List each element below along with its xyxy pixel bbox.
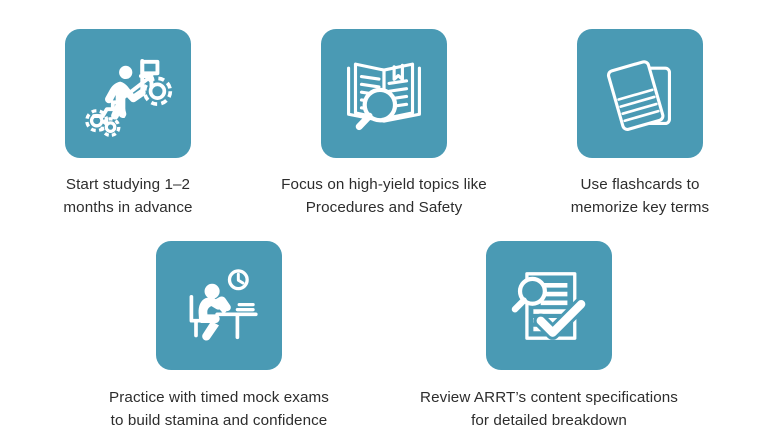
career-growth-stairs-icon xyxy=(82,48,174,140)
tip-card-3[interactable]: Use flashcards to memorize key terms xyxy=(512,29,768,219)
tip-icon-tile-5[interactable] xyxy=(486,241,612,370)
student-desk-clock-icon xyxy=(173,260,265,352)
tip-caption-5: Review ARRT’s content specifications for… xyxy=(420,386,678,432)
magnifier-icon xyxy=(515,278,545,308)
tip-icon-tile-2[interactable] xyxy=(321,29,447,158)
student-figure xyxy=(199,283,231,340)
desk-shape xyxy=(217,314,256,337)
tip-card-4[interactable]: Practice with timed mock exams to build … xyxy=(54,241,384,432)
tip-caption-4: Practice with timed mock exams to build … xyxy=(109,386,329,432)
tip-card-2[interactable]: Focus on high-yield topics like Procedur… xyxy=(256,29,512,219)
infographic-board: Start studying 1–2 months in advance xyxy=(0,0,768,432)
tip-icon-tile-3[interactable] xyxy=(577,29,703,158)
clock-icon xyxy=(229,270,247,288)
tip-caption-3: Use flashcards to memorize key terms xyxy=(571,173,710,219)
books-shape xyxy=(237,304,253,309)
gear-icon-right xyxy=(145,78,171,104)
flashcards-icon xyxy=(594,48,686,140)
tip-card-1[interactable]: Start studying 1–2 months in advance xyxy=(0,29,256,219)
tips-row-bottom: Practice with timed mock exams to build … xyxy=(0,241,768,432)
document-magnifier-check-icon xyxy=(503,260,595,352)
open-book-magnifier-icon xyxy=(338,48,430,140)
tip-icon-tile-1[interactable] xyxy=(65,29,191,158)
tips-row-top: Start studying 1–2 months in advance xyxy=(0,29,768,219)
tip-caption-1: Start studying 1–2 months in advance xyxy=(63,173,192,219)
tip-icon-tile-4[interactable] xyxy=(156,241,282,370)
tip-caption-2: Focus on high-yield topics like Procedur… xyxy=(281,173,487,219)
tip-card-5[interactable]: Review ARRT’s content specifications for… xyxy=(384,241,714,432)
